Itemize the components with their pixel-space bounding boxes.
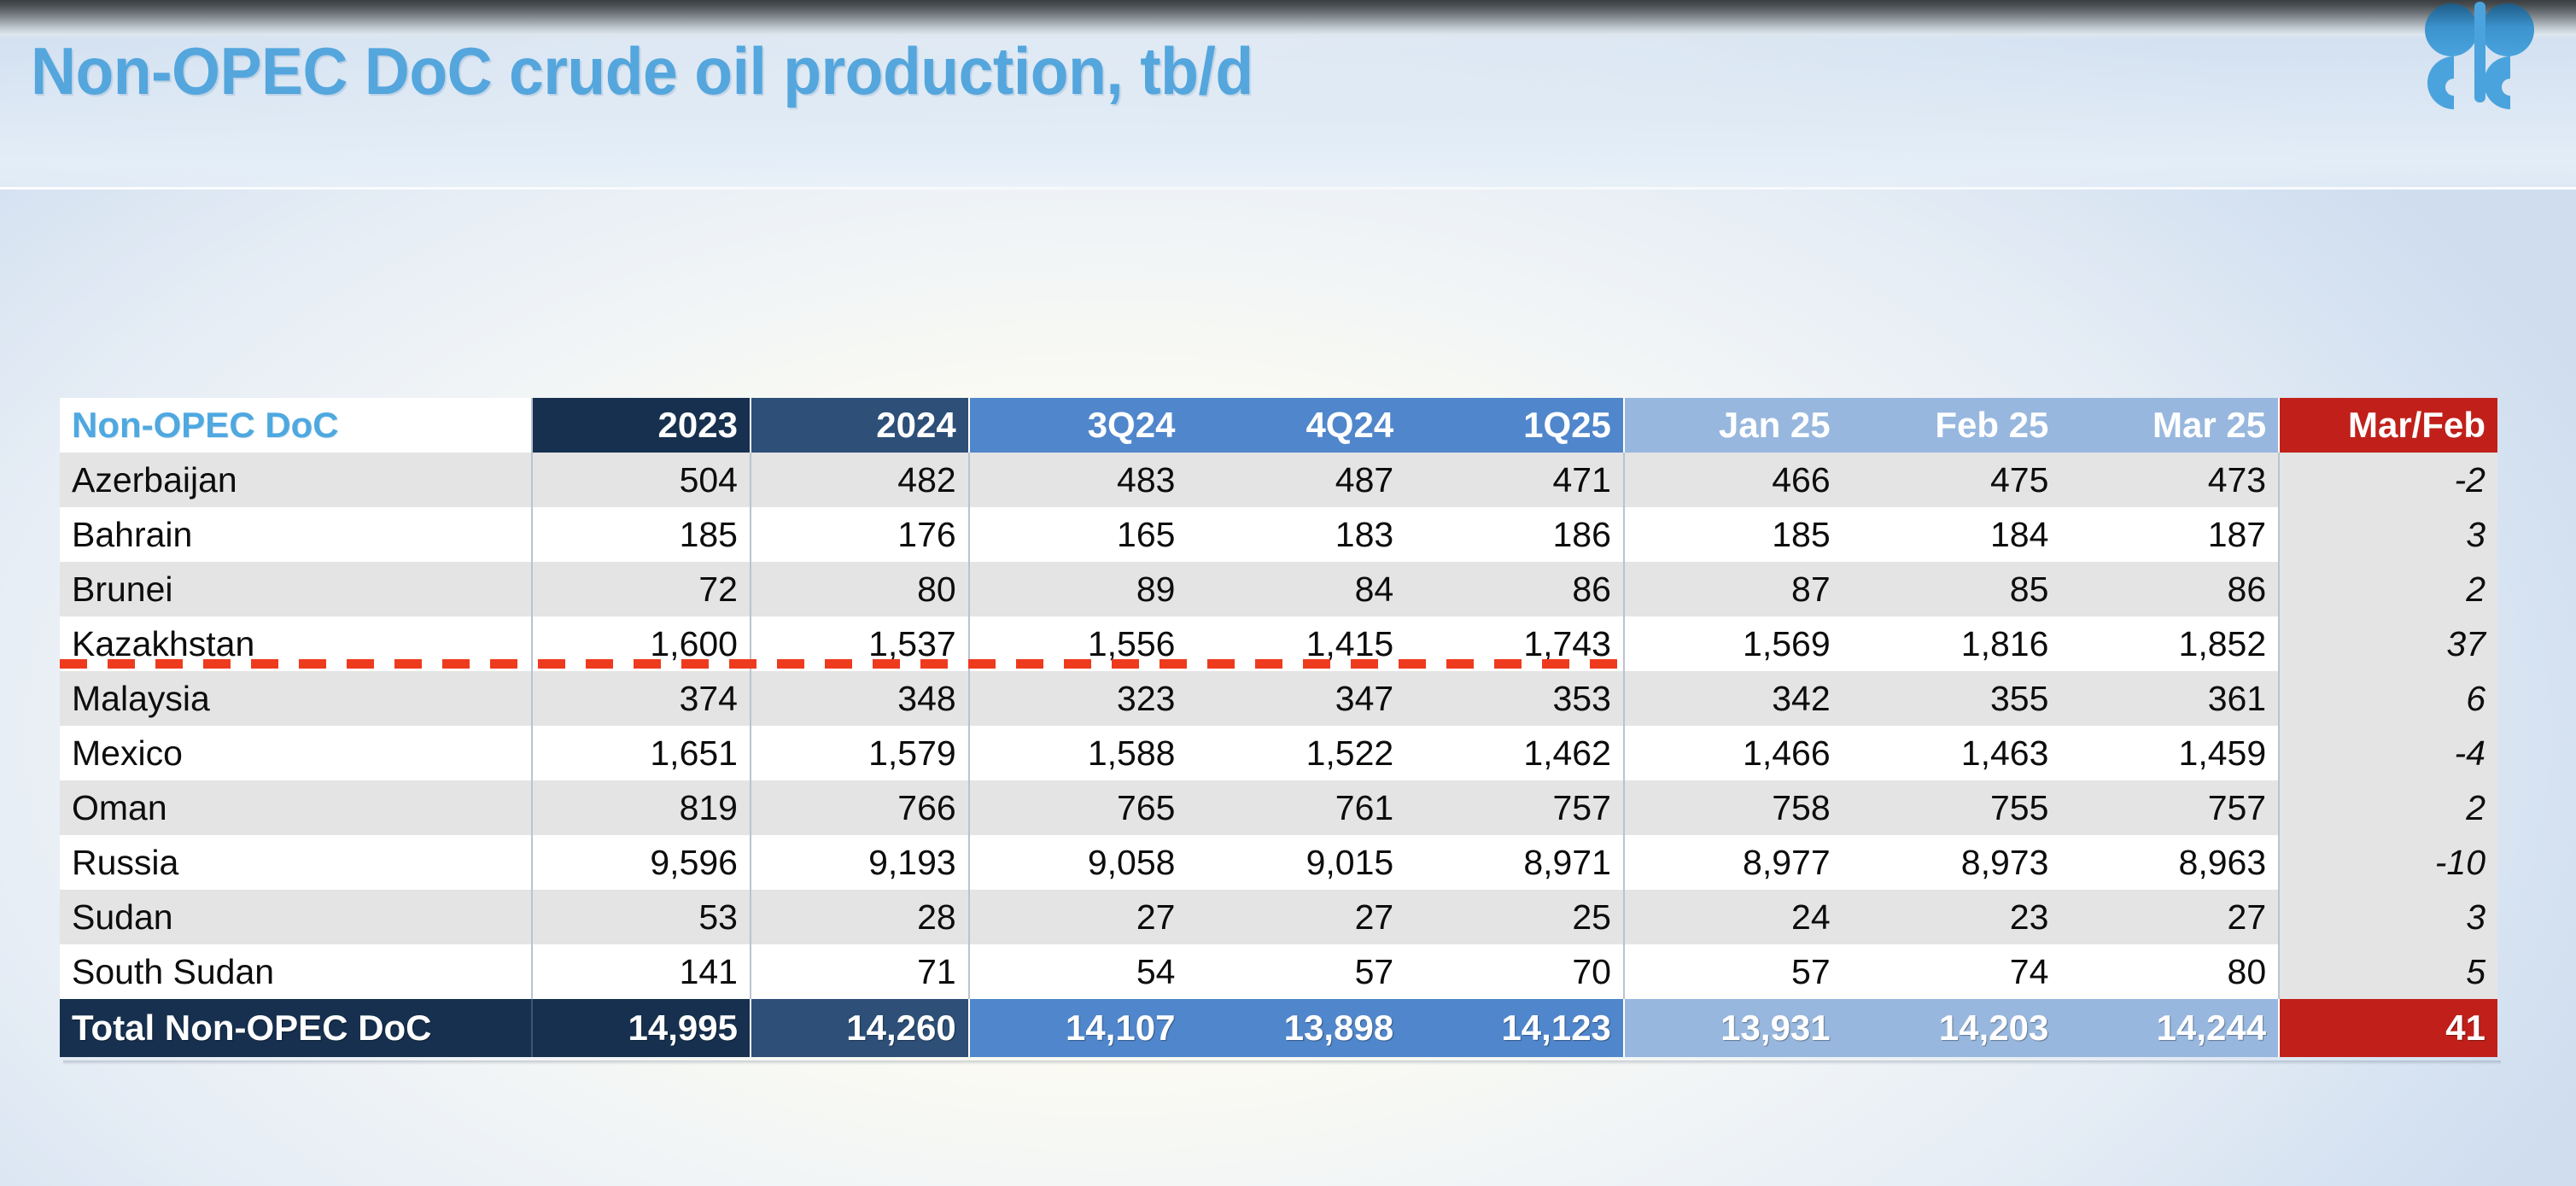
cell-sudan-2024: 28 xyxy=(751,890,969,944)
cell-brunei-jan25: 87 xyxy=(1624,562,1843,616)
cell-mexico-delta: -4 xyxy=(2279,726,2497,780)
cell-azerbaijan-2023: 504 xyxy=(532,453,751,507)
cell-mexico-1q25: 1,462 xyxy=(1405,726,1624,780)
total-2023: 14,995 xyxy=(532,999,751,1057)
cell-south-sudan-jan25: 57 xyxy=(1624,944,1843,999)
cell-sudan-3q24: 27 xyxy=(969,890,1188,944)
cell-malaysia-1q25: 353 xyxy=(1405,671,1624,726)
cell-brunei-3q24: 89 xyxy=(969,562,1188,616)
cell-mexico-jan25: 1,466 xyxy=(1624,726,1843,780)
header-col-2023[interactable]: 2023 xyxy=(532,398,751,453)
header-col-4q24[interactable]: 4Q24 xyxy=(1187,398,1405,453)
total-mar-feb: 41 xyxy=(2279,999,2497,1057)
row-label-south-sudan: South Sudan xyxy=(60,944,532,999)
row-label-sudan: Sudan xyxy=(60,890,532,944)
cell-mexico-4q24: 1,522 xyxy=(1187,726,1405,780)
table-row[interactable]: Oman 819 766 765 761 757 758 755 757 2 xyxy=(60,780,2497,835)
cell-brunei-4q24: 84 xyxy=(1187,562,1405,616)
cell-azerbaijan-3q24: 483 xyxy=(969,453,1188,507)
cell-brunei-feb25: 85 xyxy=(1843,562,2061,616)
cell-sudan-1q25: 25 xyxy=(1405,890,1624,944)
cell-russia-2023: 9,596 xyxy=(532,835,751,890)
table-row[interactable]: Mexico 1,651 1,579 1,588 1,522 1,462 1,4… xyxy=(60,726,2497,780)
cell-malaysia-4q24: 347 xyxy=(1187,671,1405,726)
total-3q24: 14,107 xyxy=(969,999,1188,1057)
cell-south-sudan-1q25: 70 xyxy=(1405,944,1624,999)
cell-oman-4q24: 761 xyxy=(1187,780,1405,835)
cell-russia-4q24: 9,015 xyxy=(1187,835,1405,890)
cell-mexico-3q24: 1,588 xyxy=(969,726,1188,780)
cell-azerbaijan-feb25: 475 xyxy=(1843,453,2061,507)
table-total-row[interactable]: Total Non-OPEC DoC 14,995 14,260 14,107 … xyxy=(60,999,2497,1057)
cell-russia-3q24: 9,058 xyxy=(969,835,1188,890)
cell-oman-2024: 766 xyxy=(751,780,969,835)
table-row[interactable]: South Sudan 141 71 54 57 70 57 74 80 5 xyxy=(60,944,2497,999)
row-label-russia: Russia xyxy=(60,835,532,890)
table-header-row: Non-OPEC DoC 2023 2024 3Q24 4Q24 1Q25 Ja… xyxy=(60,398,2497,453)
cell-oman-2023: 819 xyxy=(532,780,751,835)
cell-sudan-mar25: 27 xyxy=(2060,890,2279,944)
table-row[interactable]: Azerbaijan 504 482 483 487 471 466 475 4… xyxy=(60,453,2497,507)
cell-kazakhstan-4q24: 1,415 xyxy=(1187,616,1405,671)
cell-bahrain-3q24: 165 xyxy=(969,507,1188,562)
cell-oman-jan25: 758 xyxy=(1624,780,1843,835)
cell-south-sudan-feb25: 74 xyxy=(1843,944,2061,999)
cell-bahrain-feb25: 184 xyxy=(1843,507,2061,562)
cell-malaysia-jan25: 342 xyxy=(1624,671,1843,726)
header-col-2024[interactable]: 2024 xyxy=(751,398,969,453)
cell-sudan-delta: 3 xyxy=(2279,890,2497,944)
cell-russia-mar25: 8,963 xyxy=(2060,835,2279,890)
production-table-container: Non-OPEC DoC 2023 2024 3Q24 4Q24 1Q25 Ja… xyxy=(60,398,2497,1057)
row-label-bahrain: Bahrain xyxy=(60,507,532,562)
cell-brunei-2024: 80 xyxy=(751,562,969,616)
cell-kazakhstan-jan25: 1,569 xyxy=(1624,616,1843,671)
cell-brunei-1q25: 86 xyxy=(1405,562,1624,616)
cell-mexico-2024: 1,579 xyxy=(751,726,969,780)
cell-bahrain-mar25: 187 xyxy=(2060,507,2279,562)
cell-oman-feb25: 755 xyxy=(1843,780,2061,835)
cell-oman-delta: 2 xyxy=(2279,780,2497,835)
cell-azerbaijan-1q25: 471 xyxy=(1405,453,1624,507)
cell-kazakhstan-2023: 1,600 xyxy=(532,616,751,671)
cell-russia-jan25: 8,977 xyxy=(1624,835,1843,890)
cell-malaysia-3q24: 323 xyxy=(969,671,1188,726)
cell-sudan-2023: 53 xyxy=(532,890,751,944)
cell-azerbaijan-mar25: 473 xyxy=(2060,453,2279,507)
header-corner-label: Non-OPEC DoC xyxy=(60,398,532,453)
cell-south-sudan-2023: 141 xyxy=(532,944,751,999)
row-label-oman: Oman xyxy=(60,780,532,835)
cell-mexico-2023: 1,651 xyxy=(532,726,751,780)
cell-russia-2024: 9,193 xyxy=(751,835,969,890)
cell-kazakhstan-delta: 37 xyxy=(2279,616,2497,671)
row-label-kazakhstan: Kazakhstan xyxy=(60,616,532,671)
cell-russia-1q25: 8,971 xyxy=(1405,835,1624,890)
cell-sudan-jan25: 24 xyxy=(1624,890,1843,944)
cell-south-sudan-delta: 5 xyxy=(2279,944,2497,999)
header-divider xyxy=(0,187,2576,190)
cell-bahrain-jan25: 185 xyxy=(1624,507,1843,562)
cell-sudan-feb25: 23 xyxy=(1843,890,2061,944)
cell-mexico-mar25: 1,459 xyxy=(2060,726,2279,780)
table-row[interactable]: Russia 9,596 9,193 9,058 9,015 8,971 8,9… xyxy=(60,835,2497,890)
cell-kazakhstan-mar25: 1,852 xyxy=(2060,616,2279,671)
cell-south-sudan-4q24: 57 xyxy=(1187,944,1405,999)
table-row[interactable]: Kazakhstan 1,600 1,537 1,556 1,415 1,743… xyxy=(60,616,2497,671)
header-col-3q24[interactable]: 3Q24 xyxy=(969,398,1188,453)
cell-south-sudan-mar25: 80 xyxy=(2060,944,2279,999)
total-mar25: 14,244 xyxy=(2060,999,2279,1057)
cell-kazakhstan-feb25: 1,816 xyxy=(1843,616,2061,671)
cell-malaysia-feb25: 355 xyxy=(1843,671,2061,726)
cell-south-sudan-2024: 71 xyxy=(751,944,969,999)
cell-bahrain-4q24: 183 xyxy=(1187,507,1405,562)
cell-mexico-feb25: 1,463 xyxy=(1843,726,2061,780)
cell-azerbaijan-delta: -2 xyxy=(2279,453,2497,507)
header-col-feb25[interactable]: Feb 25 xyxy=(1843,398,2061,453)
cell-malaysia-2024: 348 xyxy=(751,671,969,726)
cell-oman-mar25: 757 xyxy=(2060,780,2279,835)
total-4q24: 13,898 xyxy=(1187,999,1405,1057)
cell-brunei-delta: 2 xyxy=(2279,562,2497,616)
cell-bahrain-2023: 185 xyxy=(532,507,751,562)
cell-sudan-4q24: 27 xyxy=(1187,890,1405,944)
table-body: Azerbaijan 504 482 483 487 471 466 475 4… xyxy=(60,453,2497,1057)
cell-malaysia-2023: 374 xyxy=(532,671,751,726)
row-label-mexico: Mexico xyxy=(60,726,532,780)
table-row[interactable]: Sudan 53 28 27 27 25 24 23 27 3 xyxy=(60,890,2497,944)
cell-oman-3q24: 765 xyxy=(969,780,1188,835)
page-title: Non-OPEC DoC crude oil production, tb/d xyxy=(31,32,1253,110)
header-col-mar-feb[interactable]: Mar/Feb xyxy=(2279,398,2497,453)
row-label-brunei: Brunei xyxy=(60,562,532,616)
header-col-mar25[interactable]: Mar 25 xyxy=(2060,398,2279,453)
cell-bahrain-delta: 3 xyxy=(2279,507,2497,562)
header-col-jan25[interactable]: Jan 25 xyxy=(1624,398,1843,453)
row-label-malaysia: Malaysia xyxy=(60,671,532,726)
cell-kazakhstan-3q24: 1,556 xyxy=(969,616,1188,671)
cell-malaysia-mar25: 361 xyxy=(2060,671,2279,726)
row-label-azerbaijan: Azerbaijan xyxy=(60,453,532,507)
table-row[interactable]: Brunei 72 80 89 84 86 87 85 86 2 xyxy=(60,562,2497,616)
production-table: Non-OPEC DoC 2023 2024 3Q24 4Q24 1Q25 Ja… xyxy=(60,398,2497,1057)
cell-malaysia-delta: 6 xyxy=(2279,671,2497,726)
cell-brunei-mar25: 86 xyxy=(2060,562,2279,616)
cell-russia-feb25: 8,973 xyxy=(1843,835,2061,890)
cell-kazakhstan-2024: 1,537 xyxy=(751,616,969,671)
total-label: Total Non-OPEC DoC xyxy=(60,999,532,1057)
total-feb25: 14,203 xyxy=(1843,999,2061,1057)
table-row[interactable]: Malaysia 374 348 323 347 353 342 355 361… xyxy=(60,671,2497,726)
cell-kazakhstan-1q25: 1,743 xyxy=(1405,616,1624,671)
cell-bahrain-2024: 176 xyxy=(751,507,969,562)
cell-azerbaijan-jan25: 466 xyxy=(1624,453,1843,507)
cell-azerbaijan-2024: 482 xyxy=(751,453,969,507)
cell-south-sudan-3q24: 54 xyxy=(969,944,1188,999)
total-2024: 14,260 xyxy=(751,999,969,1057)
header-col-1q25[interactable]: 1Q25 xyxy=(1405,398,1624,453)
total-1q25: 14,123 xyxy=(1405,999,1624,1057)
cell-russia-delta: -10 xyxy=(2279,835,2497,890)
cell-brunei-2023: 72 xyxy=(532,562,751,616)
cell-bahrain-1q25: 186 xyxy=(1405,507,1624,562)
total-jan25: 13,931 xyxy=(1624,999,1843,1057)
cell-azerbaijan-4q24: 487 xyxy=(1187,453,1405,507)
cell-oman-1q25: 757 xyxy=(1405,780,1624,835)
opec-logo-icon xyxy=(2398,2,2561,111)
table-row[interactable]: Bahrain 185 176 165 183 186 185 184 187 … xyxy=(60,507,2497,562)
